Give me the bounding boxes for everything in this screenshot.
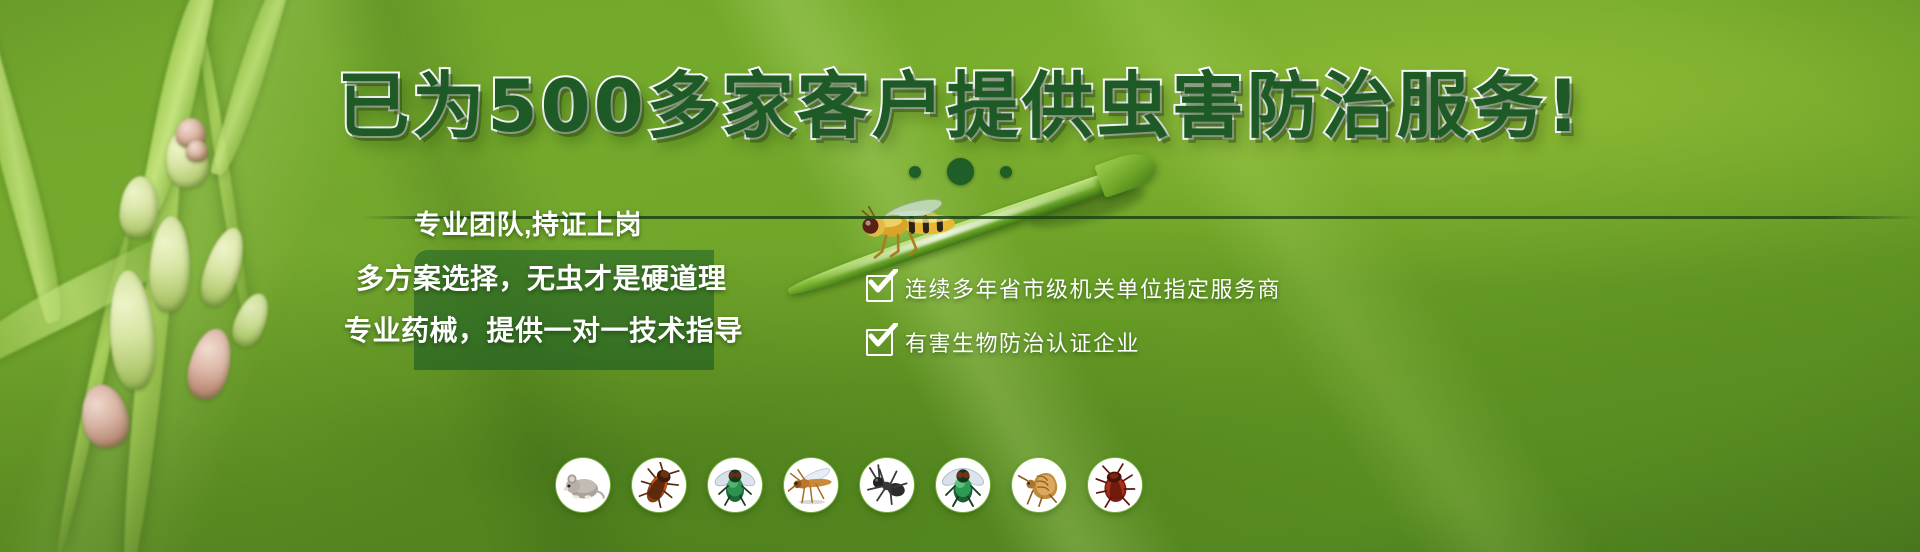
bedbug-icon[interactable] <box>1088 458 1142 512</box>
promo-banner: 已为500多家客户提供虫害防治服务! 专业团队,持证上岗 多方案选择，无虫才是硬… <box>0 0 1920 552</box>
list-item-label: 连续多年省市级机关单位指定服务商 <box>905 272 1281 304</box>
credentials-list: 连续多年省市级机关单位指定服务商 有害生物防治认证企业 <box>866 272 1281 358</box>
mouse-icon[interactable] <box>556 458 610 512</box>
cockroach-icon[interactable] <box>632 458 686 512</box>
pest-icon-row <box>556 458 1142 512</box>
decor-dot-row <box>0 158 1920 185</box>
housefly-icon[interactable] <box>708 458 762 512</box>
headline-text: 已为500多家客户提供虫害防治服务! <box>337 64 1582 148</box>
checkbox-checked-icon <box>866 329 893 356</box>
flea-icon[interactable] <box>1012 458 1066 512</box>
list-item: 连续多年省市级机关单位指定服务商 <box>866 272 1281 304</box>
mosquito-icon[interactable] <box>784 458 838 512</box>
decor-dot-small-right <box>1000 166 1012 178</box>
panel-line-1: 专业团队,持证上岗 <box>340 212 760 239</box>
highlight-panel-text: 专业团队,持证上岗 多方案选择，无虫才是硬道理 专业药械，提供一对一技术指导 <box>340 212 760 345</box>
page-title: 已为500多家客户提供虫害防治服务! <box>0 70 1920 142</box>
list-item: 有害生物防治认证企业 <box>866 326 1281 358</box>
greenbottle-fly-icon[interactable] <box>936 458 990 512</box>
decor-dot-large-center <box>947 158 974 185</box>
ant-icon[interactable] <box>860 458 914 512</box>
panel-line-2: 多方案选择，无虫才是硬道理 <box>340 265 760 293</box>
panel-line-3: 专业药械，提供一对一技术指导 <box>340 317 760 345</box>
list-item-label: 有害生物防治认证企业 <box>905 326 1140 358</box>
checkbox-checked-icon <box>866 275 893 302</box>
decor-dot-small-left <box>909 166 921 178</box>
